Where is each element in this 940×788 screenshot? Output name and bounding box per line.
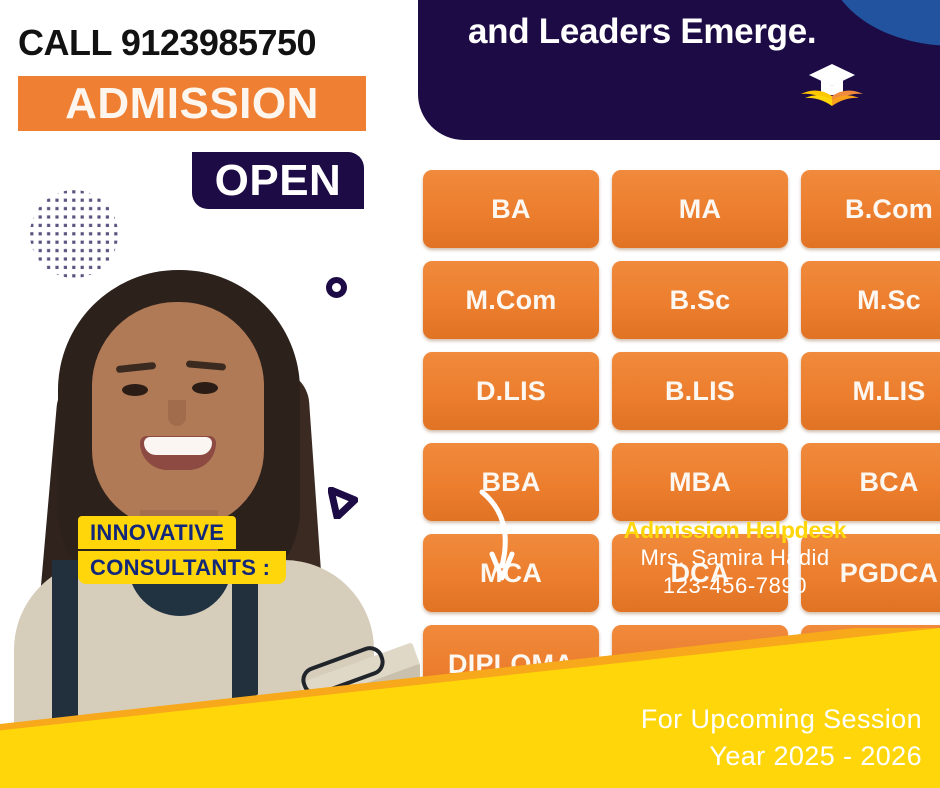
badge-line-1: INNOVATIVE [78, 516, 236, 549]
course-tile[interactable]: M.Sc [801, 261, 940, 339]
graduation-cap-book-icon [793, 62, 871, 110]
course-tile[interactable]: MBA [612, 443, 788, 521]
course-tile[interactable]: BA [423, 170, 599, 248]
consultants-badge: INNOVATIVE CONSULTANTS : [78, 516, 286, 584]
course-tile[interactable]: BCA [801, 443, 940, 521]
course-tile[interactable]: B.LIS [612, 352, 788, 430]
footer-line-2: Year 2025 - 2026 [641, 738, 922, 774]
helpdesk-overlay: Admission Helpdesk Mrs. Samira Hadid 123… [600, 518, 870, 599]
call-phone-line: CALL 9123985750 [18, 22, 316, 64]
badge-line-2: CONSULTANTS : [78, 551, 286, 584]
blue-swoosh-decoration [826, 0, 940, 50]
helpdesk-title: Admission Helpdesk [600, 518, 870, 543]
page-title: and Leaders Emerge. [468, 12, 816, 52]
course-tile[interactable]: B.Sc [612, 261, 788, 339]
admission-banner: ADMISSION [18, 76, 366, 131]
footer-line-1: For Upcoming Session [641, 701, 922, 737]
course-tile[interactable]: MA [612, 170, 788, 248]
course-tile[interactable]: B.Com [801, 170, 940, 248]
helpdesk-contact-name: Mrs. Samira Hadid [600, 543, 870, 573]
admission-label: ADMISSION [65, 82, 319, 126]
course-tile[interactable]: M.Com [423, 261, 599, 339]
header-panel: and Leaders Emerge. [418, 0, 940, 140]
helpdesk-phone: 123-456-7890 [600, 573, 870, 599]
course-tile[interactable]: M.LIS [801, 352, 940, 430]
open-label: OPEN [215, 159, 342, 203]
open-banner: OPEN [192, 152, 364, 209]
course-tile-grid: BA MA B.Com M.Com B.Sc M.Sc D.LIS B.LIS … [423, 170, 940, 703]
admission-poster: and Leaders Emerge. CALL 9123985750 ADMI… [0, 0, 940, 788]
footer-banner: For Upcoming Session Year 2025 - 2026 [0, 628, 940, 788]
course-tile[interactable]: BBA [423, 443, 599, 521]
course-tile[interactable]: D.LIS [423, 352, 599, 430]
course-tile[interactable]: MCA [423, 534, 599, 612]
